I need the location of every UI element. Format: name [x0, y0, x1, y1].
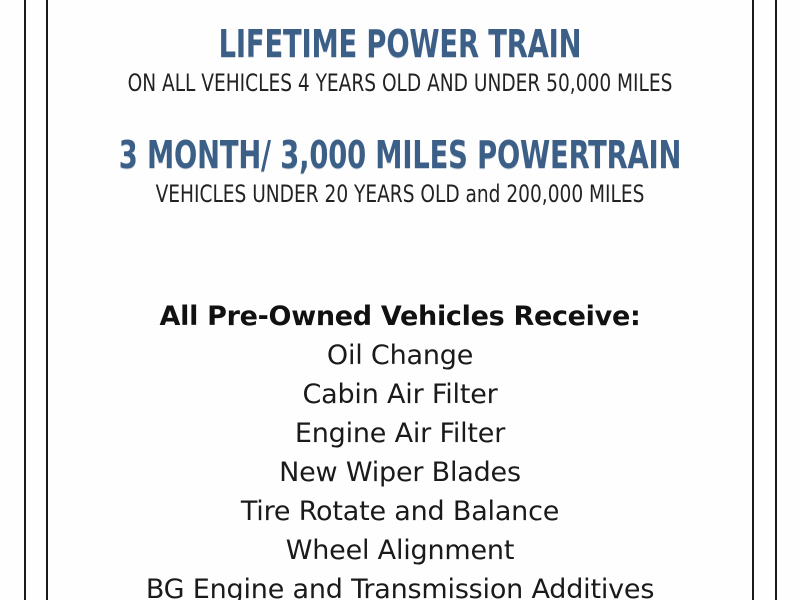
service-item: Oil Change	[48, 336, 752, 375]
warranty-title: 3 MONTH/ 3,000 MILES POWERTRAIN	[118, 133, 681, 177]
flyer-page: LIFETIME POWER TRAIN ON ALL VEHICLES 4 Y…	[0, 0, 800, 600]
warranty-block-lifetime-powertrain: LIFETIME POWER TRAIN ON ALL VEHICLES 4 Y…	[48, 22, 752, 98]
service-item: BG Engine and Transmission Additives	[48, 570, 752, 600]
warranty-block-3month-powertrain: 3 MONTH/ 3,000 MILES POWERTRAIN VEHICLES…	[48, 133, 752, 209]
warranty-subtitle: ON ALL VEHICLES 4 YEARS OLD AND UNDER 50…	[97, 68, 702, 98]
warranty-subtitle: VEHICLES UNDER 20 YEARS OLD and 200,000 …	[97, 179, 702, 209]
warranty-title: LIFETIME POWER TRAIN	[118, 22, 681, 66]
frame-rule-right-outer	[775, 0, 777, 600]
frame-rule-left-outer	[24, 0, 26, 600]
services-section: All Pre-Owned Vehicles Receive: Oil Chan…	[48, 297, 752, 600]
flyer-content: LIFETIME POWER TRAIN ON ALL VEHICLES 4 Y…	[48, 0, 752, 600]
frame-rule-right-inner	[752, 0, 754, 600]
services-heading: All Pre-Owned Vehicles Receive:	[48, 297, 752, 336]
service-item: New Wiper Blades	[48, 453, 752, 492]
service-item: Engine Air Filter	[48, 414, 752, 453]
service-item: Wheel Alignment	[48, 531, 752, 570]
service-item: Tire Rotate and Balance	[48, 492, 752, 531]
service-item: Cabin Air Filter	[48, 375, 752, 414]
